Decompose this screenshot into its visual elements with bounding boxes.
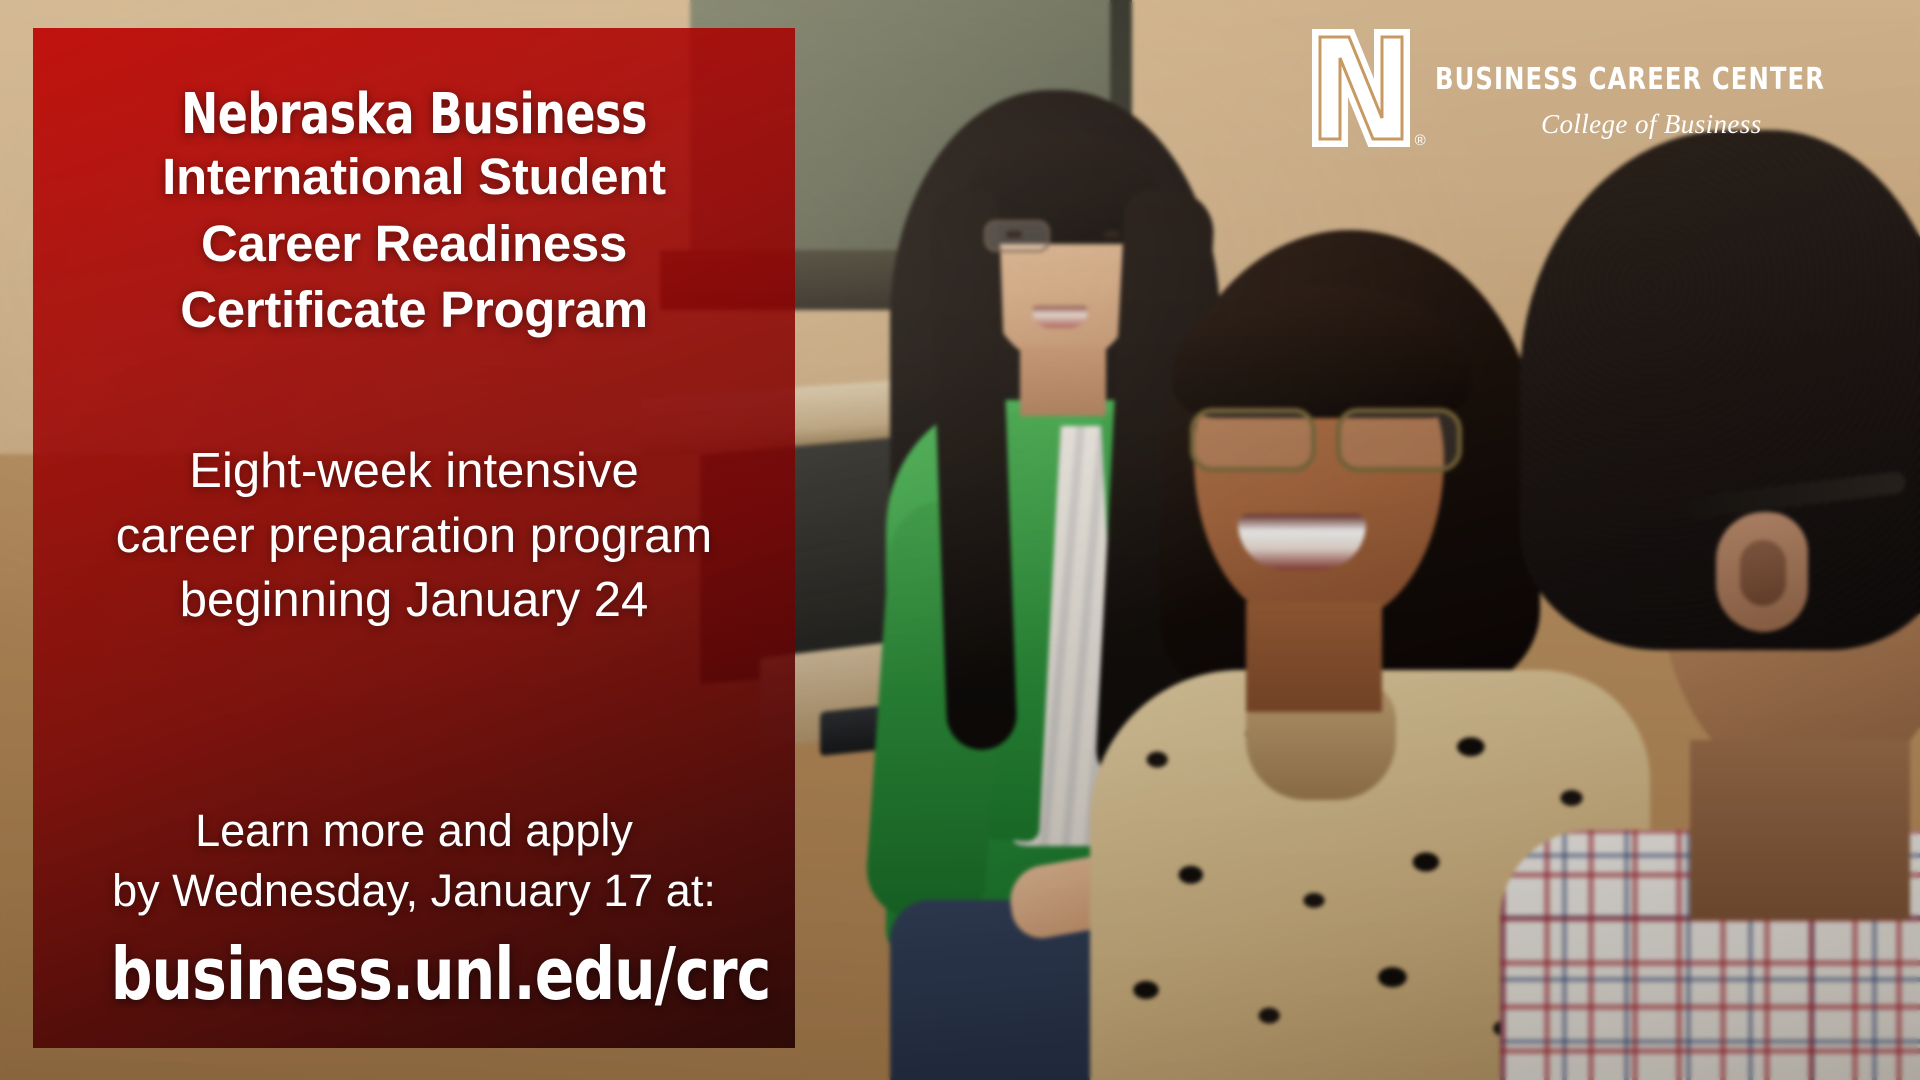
headline-kicker: Nebraska Business: [117, 86, 710, 144]
headline-block: Nebraska Business International Student …: [77, 86, 751, 343]
cta-line-2: by Wednesday, January 17 at:: [77, 861, 751, 921]
student2-glasses: [1190, 408, 1462, 466]
student1-smile: [1032, 306, 1088, 328]
body-line-2: career preparation program: [77, 504, 751, 569]
promotional-flyer: Nebraska Business International Student …: [0, 0, 1920, 1080]
student1-glasses: [984, 220, 1142, 250]
student2-neck: [1246, 602, 1382, 712]
student-plaid-shirt: [1540, 130, 1920, 1080]
red-overlay-panel: Nebraska Business International Student …: [33, 28, 795, 1048]
student1-neck: [1020, 346, 1106, 416]
nebraska-n-icon: ®: [1309, 26, 1413, 150]
cta-block: Learn more and apply by Wednesday, Janua…: [77, 801, 751, 1012]
headline-line-1: International Student: [77, 144, 751, 210]
business-career-center-logo: ® BUSINESS CAREER CENTER College of Busi…: [1309, 26, 1868, 150]
headline-line-2: Career Readiness: [77, 211, 751, 277]
registered-trademark-icon: ®: [1415, 133, 1426, 148]
student3-neck: [1690, 740, 1910, 920]
program-url[interactable]: business.unl.edu/crc: [111, 936, 718, 1012]
cta-line-1: Learn more and apply: [77, 801, 751, 861]
logo-subtitle: College of Business: [1435, 109, 1868, 140]
student3-ear-inner: [1740, 540, 1786, 606]
logo-text: BUSINESS CAREER CENTER College of Busine…: [1435, 26, 1868, 140]
headline-line-3: Certificate Program: [77, 277, 751, 343]
body-line-1: Eight-week intensive: [77, 439, 751, 504]
body-block: Eight-week intensive career preparation …: [77, 439, 751, 633]
logo-title: BUSINESS CAREER CENTER: [1435, 62, 1825, 97]
body-line-3: beginning January 24: [77, 568, 751, 633]
